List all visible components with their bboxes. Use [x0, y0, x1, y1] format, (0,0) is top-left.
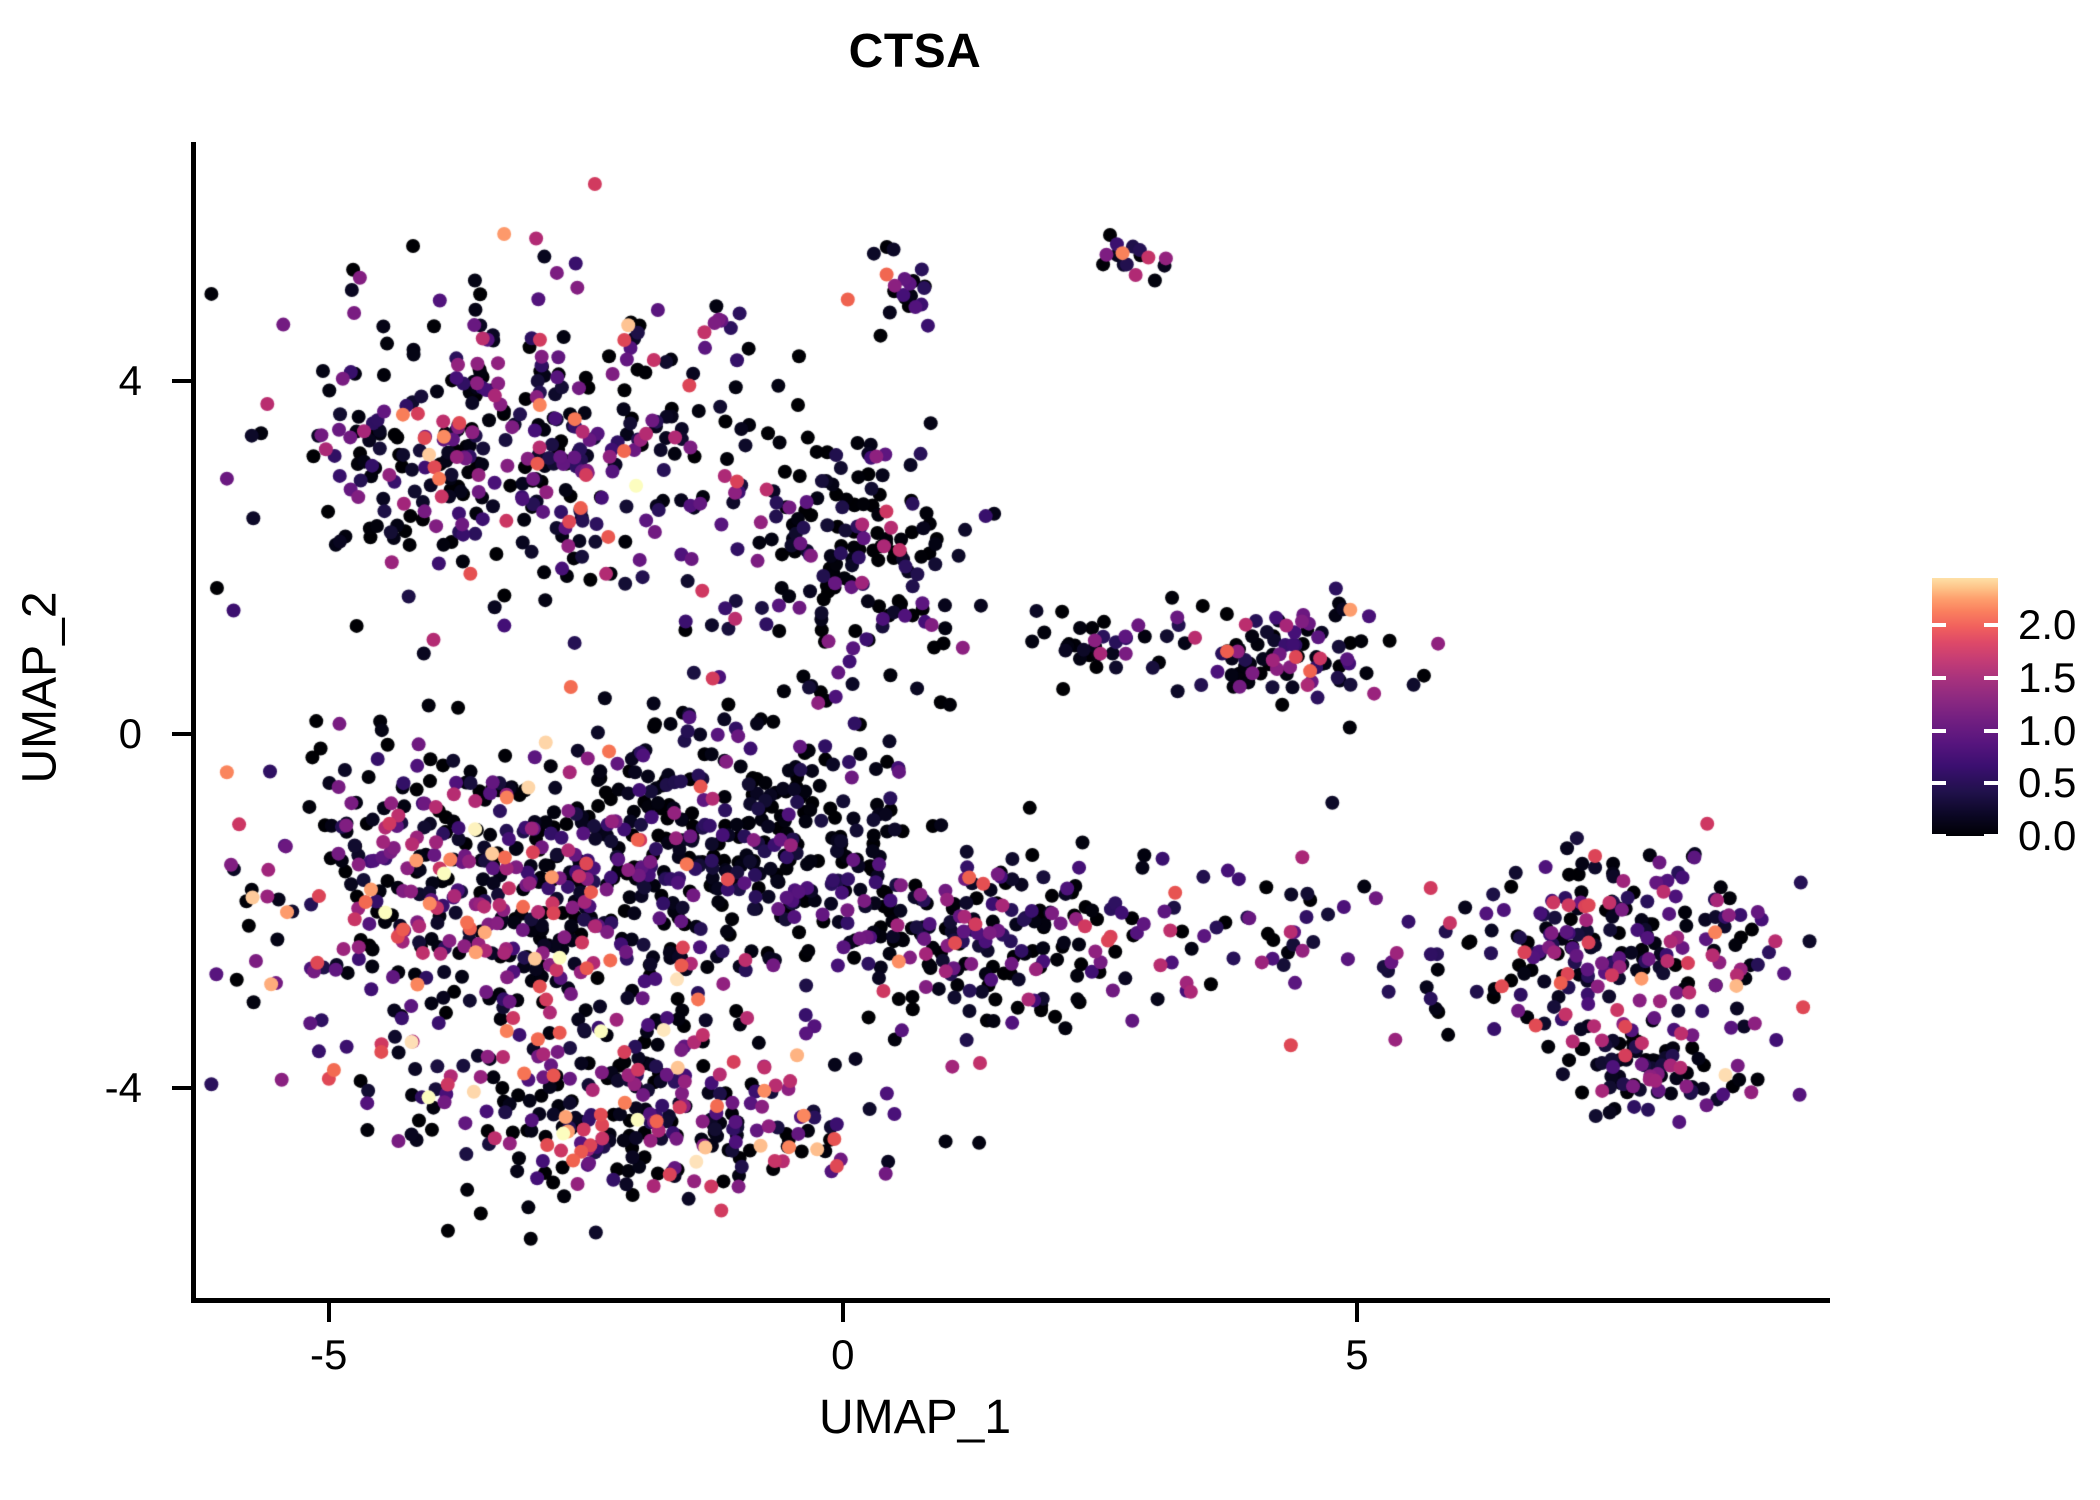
- x-axis-line: [191, 1298, 1830, 1303]
- colorbar-tick-label: 0.0: [2018, 815, 2076, 857]
- colorbar-tick: [1984, 781, 1998, 785]
- plot-panel: [195, 142, 1830, 1300]
- colorbar-tick-label: 1.5: [2018, 657, 2076, 699]
- x-axis-title: UMAP_1: [0, 1390, 1830, 1445]
- x-axis-tick-0: [841, 1302, 845, 1322]
- y-axis-title: UMAP_2: [13, 338, 68, 1038]
- y-axis-tick-4: [172, 379, 192, 383]
- colorbar-tick-label: 2.0: [2018, 604, 2076, 646]
- x-axis-tick-neg5: [327, 1302, 331, 1322]
- colorbar-tick-label: 0.5: [2018, 762, 2076, 804]
- y-axis-tick-label: 4: [72, 360, 142, 402]
- y-axis-tick-neg4: [172, 1086, 192, 1090]
- y-axis-tick-0: [172, 732, 192, 736]
- colorbar-gradient: [1932, 578, 1998, 836]
- colorbar-tick: [1932, 834, 1946, 838]
- colorbar-tick: [1984, 834, 1998, 838]
- y-axis-line: [191, 142, 196, 1302]
- x-axis-tick-label: -5: [269, 1334, 389, 1376]
- colorbar-tick: [1984, 729, 1998, 733]
- colorbar-tick: [1932, 729, 1946, 733]
- colorbar-tick: [1984, 623, 1998, 627]
- colorbar-tick: [1932, 623, 1946, 627]
- page-title: CTSA: [0, 24, 1830, 79]
- x-axis-tick-label: 0: [783, 1334, 903, 1376]
- colorbar-tick: [1984, 676, 1998, 680]
- colorbar-legend: 2.01.51.00.50.0: [1932, 578, 1998, 836]
- y-axis-tick-label: -4: [52, 1067, 142, 1109]
- colorbar-tick-label: 1.0: [2018, 710, 2076, 752]
- scatter-points-canvas: [195, 142, 1830, 1300]
- colorbar-tick: [1932, 676, 1946, 680]
- x-axis-tick-5: [1355, 1302, 1359, 1322]
- colorbar-tick: [1932, 781, 1946, 785]
- x-axis-tick-label: 5: [1297, 1334, 1417, 1376]
- umap-feature-plot: CTSA 4 0 -4 -5 0 5 UMAP_1 UMAP_2 2.01.51…: [0, 0, 2100, 1500]
- y-axis-tick-label: 0: [72, 713, 142, 755]
